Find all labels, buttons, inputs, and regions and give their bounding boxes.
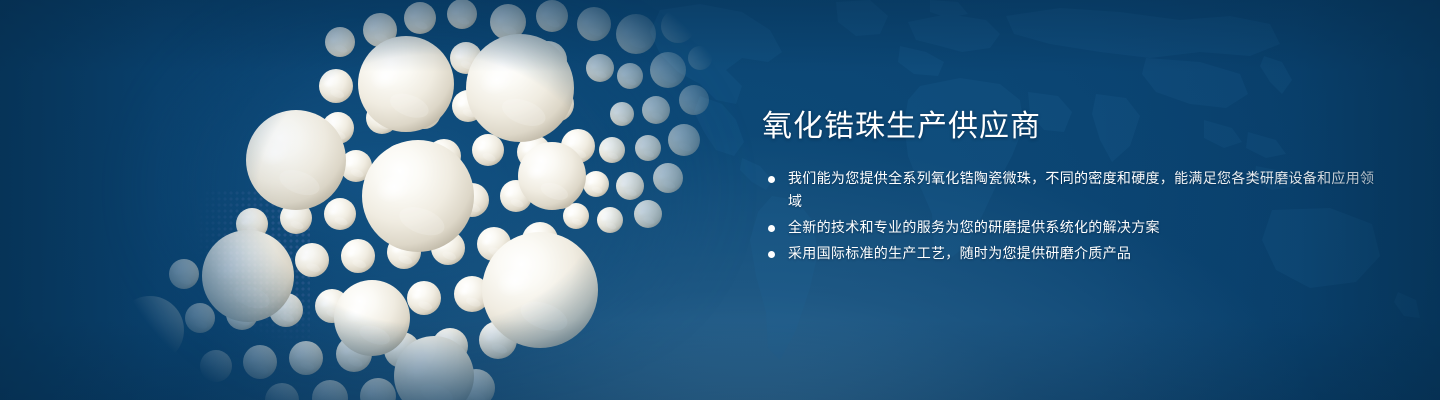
hero-banner: 氧化锆珠生产供应商 我们能为您提供全系列氧化锆陶瓷微珠，不同的密度和硬度，能满足… (0, 0, 1440, 400)
edge-vignette (0, 0, 1440, 400)
